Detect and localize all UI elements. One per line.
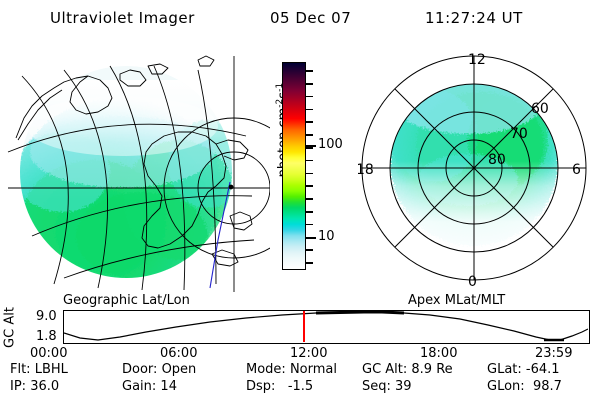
observation-time: 11:27:24 UT [425,9,523,27]
mlt-label-12: 12 [468,52,486,68]
uv-emission-field [2,66,270,282]
strip-ytick-min: 1.8 [36,331,57,343]
colorbar-minor-tick [306,262,313,264]
strip-time-axis: 00:0006:0012:0018:0023:59 [0,346,600,362]
colorbar-scale[interactable] [282,62,306,270]
altitude-trace [64,311,588,342]
geographic-panel-caption: Geographic Lat/Lon [63,293,190,308]
colorbar-minor-tick [306,185,313,187]
filter-status: Flt: LBHL [10,362,68,377]
colorbar-minor-tick [306,147,313,149]
apex-polar-projection: 12 18 6 0 60 70 80 [358,40,600,292]
colorbar-major-tick [306,237,316,239]
uv-emission-field-apex [358,40,600,292]
glat-status: GLat: -64.1 [487,362,560,377]
gain-status: Gain: 14 [122,379,177,394]
status-footer: Flt: LBHL IP: 36.0 Door: Open Gain: 14 M… [0,362,600,398]
colorbar-minor-tick [306,249,313,251]
mlat-rings [362,56,586,280]
strip-ytick-max: 9.0 [36,311,57,323]
mlat-label-80: 80 [488,152,506,168]
time-cursor[interactable] [303,311,305,342]
glon-status: GLon: 98.7 [487,379,562,394]
colorbar-minor-tick [306,198,313,200]
colorbar-gradient [283,63,305,269]
header-bar: Ultraviolet Imager 05 Dec 07 11:27:24 UT [0,6,600,32]
colorbar-minor-tick [306,211,313,213]
subsatellite-point [229,185,234,190]
time-tick-0: 00:00 [30,346,67,361]
observation-date: 05 Dec 07 [270,9,351,27]
mlt-label-0: 0 [468,274,477,290]
colorbar-minor-tick [306,121,313,123]
mlat-label-60: 60 [531,101,549,117]
time-tick-2: 12:00 [290,346,327,361]
seq-status: Seq: 39 [362,379,412,394]
instrument-title: Ultraviolet Imager [50,9,195,27]
colorbar-major-tick [306,145,316,147]
colorbar-minor-tick [306,83,313,85]
colorbar-minor-tick [306,96,313,98]
strip-plot-area[interactable] [63,310,590,344]
apex-panel-caption: Apex MLat/MLT [408,293,505,308]
orbit-altitude-strip[interactable]: GC Alt 9.0 1.8 00:0006:0012:0018:0023:59 [0,308,600,358]
dsp-status: Dsp: -1.5 [246,379,313,394]
geographic-projection [2,40,270,292]
colorbar-minor-tick [306,173,313,175]
geographic-image-panel[interactable] [2,40,270,292]
mode-status: Mode: Normal [246,362,337,377]
colorbar-group: photon cm-2s-1 10010 [268,62,354,292]
colorbar-tick-label-1: 10 [318,231,335,243]
mlt-label-18: 18 [358,162,374,178]
colorbar-tick-label-0: 100 [318,139,343,151]
time-tick-1: 06:00 [160,346,197,361]
gcalt-status: GC Alt: 8.9 Re [362,362,453,377]
colorbar-minor-tick [306,70,313,72]
door-status: Door: Open [122,362,196,377]
colorbar-minor-tick [306,134,313,136]
mlat-label-70: 70 [510,126,528,142]
colorbar-minor-tick [306,109,313,111]
mlt-label-6: 6 [572,162,581,178]
colorbar-minor-tick [306,160,313,162]
time-tick-4: 23:59 [535,346,572,361]
ip-status: IP: 36.0 [10,379,59,394]
colorbar-minor-tick [306,224,313,226]
apex-dial-panel[interactable]: 12 18 6 0 60 70 80 [358,40,600,292]
time-tick-3: 18:00 [420,346,457,361]
